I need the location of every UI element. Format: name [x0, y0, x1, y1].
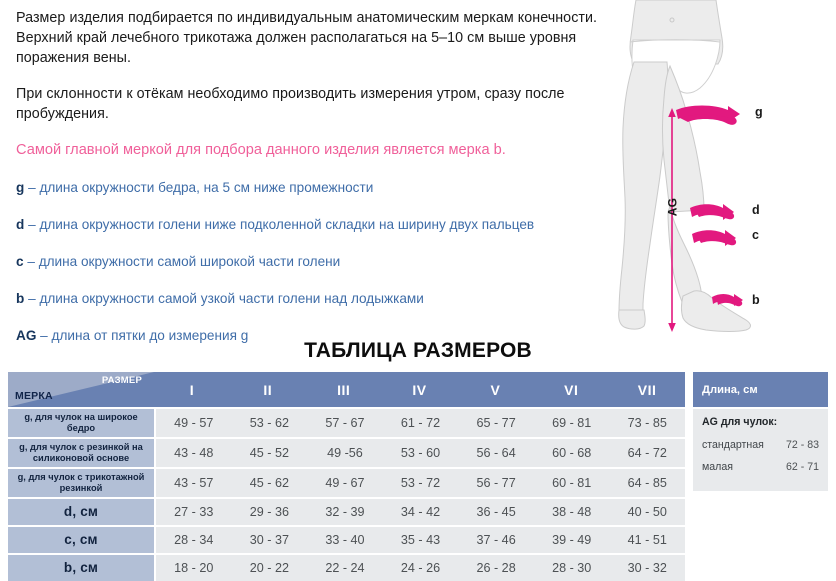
c-circumference-arrow — [692, 230, 736, 246]
measurement-label-c: c — [752, 228, 759, 242]
table-cell: 26 - 28 — [458, 555, 534, 581]
table-cell: 60 - 68 — [534, 439, 610, 467]
length-panel-header: Длина, см — [693, 372, 828, 407]
table-cell: 43 - 57 — [156, 469, 232, 497]
length-panel: Длина, см AG для чулок: стандартная 72 -… — [693, 372, 828, 491]
table-cell: 22 - 24 — [307, 555, 383, 581]
table-cell: 29 - 36 — [232, 499, 308, 525]
leg-illustration-svg — [600, 0, 836, 340]
definition-key-b: b — [16, 291, 24, 306]
table-cell: 43 - 48 — [156, 439, 232, 467]
row-label: g, для чулок с резинкой на силиконовой о… — [8, 439, 154, 467]
table-cell: 28 - 34 — [156, 527, 232, 553]
table-cell: 61 - 72 — [383, 409, 459, 437]
table-cell: 18 - 20 — [156, 555, 232, 581]
definition-c: c – длина окружности самой широкой части… — [16, 253, 616, 271]
table-cell: 65 - 77 — [458, 409, 534, 437]
table-cell: 53 - 72 — [383, 469, 459, 497]
table-cell: 69 - 81 — [534, 409, 610, 437]
definition-dash-c: – — [27, 254, 35, 269]
definition-key-c: c — [16, 254, 24, 269]
table-cell: 37 - 46 — [458, 527, 534, 553]
table-header-corner: РАЗМЕР МЕРКА — [8, 372, 154, 407]
table-cell: 64 - 85 — [609, 469, 685, 497]
measurement-label-ag: AG — [665, 198, 679, 217]
size-column-header-3: III — [306, 372, 382, 407]
length-row-small: малая 62 - 71 — [702, 461, 819, 473]
table-cell: 56 - 64 — [458, 439, 534, 467]
size-column-header-1: I — [154, 372, 230, 407]
table-row: g, для чулок на широкое бедро 49 - 57 53… — [8, 409, 685, 437]
table-cell: 53 - 60 — [383, 439, 459, 467]
table-cell: 33 - 40 — [307, 527, 383, 553]
row-values: 18 - 20 20 - 22 22 - 24 24 - 26 26 - 28 … — [156, 555, 685, 581]
header-label-measure: МЕРКА — [15, 390, 53, 402]
row-label: c, см — [8, 527, 154, 553]
table-row: d, см 27 - 33 29 - 36 32 - 39 34 - 42 36… — [8, 499, 685, 525]
table-cell: 27 - 33 — [156, 499, 232, 525]
table-cell: 56 - 77 — [458, 469, 534, 497]
table-cell: 53 - 62 — [232, 409, 308, 437]
size-column-header-6: VI — [533, 372, 609, 407]
d-circumference-arrow — [690, 204, 734, 220]
table-cell: 24 - 26 — [383, 555, 459, 581]
definition-key-g: g — [16, 180, 24, 195]
table-cell: 41 - 51 — [609, 527, 685, 553]
page-title: ТАБЛИЦА РАЗМЕРОВ — [0, 339, 836, 363]
intro-paragraph-2: При склонности к отёкам необходимо произ… — [16, 84, 616, 124]
table-cell: 49 - 67 — [307, 469, 383, 497]
row-values: 27 - 33 29 - 36 32 - 39 34 - 42 36 - 45 … — [156, 499, 685, 525]
row-label: b, см — [8, 555, 154, 581]
definition-dash-b: – — [28, 291, 36, 306]
header-label-size: РАЗМЕР — [102, 375, 142, 386]
length-row-value: 62 - 71 — [786, 461, 819, 473]
measurement-label-g: g — [755, 105, 763, 119]
definition-d: d – длина окружности голени ниже подколе… — [16, 216, 616, 234]
measurement-label-b: b — [752, 293, 760, 307]
definition-text-d: длина окружности голени ниже подколенной… — [39, 217, 534, 232]
definition-dash-d: – — [28, 217, 36, 232]
highlight-note: Самой главной меркой для подбора данного… — [16, 140, 616, 160]
length-row-label: малая — [702, 461, 733, 473]
definition-text-g: длина окружности бедра, на 5 см ниже про… — [39, 180, 373, 195]
table-cell: 20 - 22 — [232, 555, 308, 581]
definition-text-b: длина окружности самой узкой части голен… — [39, 291, 423, 306]
size-column-header-4: IV — [382, 372, 458, 407]
definition-dash-g: – — [28, 180, 36, 195]
table-cell: 49 - 57 — [156, 409, 232, 437]
table-row: g, для чулок с резинкой на силиконовой о… — [8, 439, 685, 467]
table-cell: 35 - 43 — [383, 527, 459, 553]
table-cell: 60 - 81 — [534, 469, 610, 497]
table-cell: 40 - 50 — [609, 499, 685, 525]
table-header-row: РАЗМЕР МЕРКА I II III IV V VI VII — [8, 372, 685, 407]
length-row-label: стандартная — [702, 439, 764, 451]
size-column-header-5: V — [457, 372, 533, 407]
length-panel-body: AG для чулок: стандартная 72 - 83 малая … — [693, 409, 828, 491]
table-cell: 73 - 85 — [609, 409, 685, 437]
table-row: g, для чулок с трикотажной резинкой 43 -… — [8, 469, 685, 497]
table-cell: 36 - 45 — [458, 499, 534, 525]
size-column-header-2: II — [230, 372, 306, 407]
definition-g: g – длина окружности бедра, на 5 см ниже… — [16, 179, 616, 197]
row-label: g, для чулок на широкое бедро — [8, 409, 154, 437]
length-row-standard: стандартная 72 - 83 — [702, 439, 819, 451]
table-row: b, см 18 - 20 20 - 22 22 - 24 24 - 26 26… — [8, 555, 685, 581]
table-cell: 45 - 52 — [232, 439, 308, 467]
length-panel-title: AG для чулок: — [702, 416, 819, 428]
definition-text-c: длина окружности самой широкой части гол… — [39, 254, 341, 269]
table-row: c, см 28 - 34 30 - 37 33 - 40 35 - 43 37… — [8, 527, 685, 553]
body-silhouette — [619, 0, 751, 332]
table-cell: 64 - 72 — [609, 439, 685, 467]
table-cell: 57 - 67 — [307, 409, 383, 437]
row-label: g, для чулок с трикотажной резинкой — [8, 469, 154, 497]
row-values: 43 - 57 45 - 62 49 - 67 53 - 72 56 - 77 … — [156, 469, 685, 497]
size-table-main: РАЗМЕР МЕРКА I II III IV V VI VII g, для… — [8, 372, 685, 581]
table-cell: 28 - 30 — [534, 555, 610, 581]
table-cell: 32 - 39 — [307, 499, 383, 525]
table-cell: 45 - 62 — [232, 469, 308, 497]
leg-measurement-diagram — [600, 0, 836, 340]
table-cell: 30 - 32 — [609, 555, 685, 581]
definition-key-d: d — [16, 217, 24, 232]
table-cell: 38 - 48 — [534, 499, 610, 525]
table-cell: 30 - 37 — [232, 527, 308, 553]
table-cell: 39 - 49 — [534, 527, 610, 553]
length-row-value: 72 - 83 — [786, 439, 819, 451]
size-column-header-7: VII — [609, 372, 685, 407]
info-section: Размер изделия подбирается по индивидуал… — [0, 0, 836, 336]
row-label: d, см — [8, 499, 154, 525]
table-cell: 34 - 42 — [383, 499, 459, 525]
intro-paragraph-1: Размер изделия подбирается по индивидуал… — [16, 8, 616, 68]
row-values: 43 - 48 45 - 52 49 -56 53 - 60 56 - 64 6… — [156, 439, 685, 467]
text-column: Размер изделия подбирается по индивидуал… — [16, 8, 616, 364]
definition-b: b – длина окружности самой узкой части г… — [16, 290, 616, 308]
table-cell: 49 -56 — [307, 439, 383, 467]
measurement-label-d: d — [752, 203, 760, 217]
row-values: 28 - 34 30 - 37 33 - 40 35 - 43 37 - 46 … — [156, 527, 685, 553]
row-values: 49 - 57 53 - 62 57 - 67 61 - 72 65 - 77 … — [156, 409, 685, 437]
